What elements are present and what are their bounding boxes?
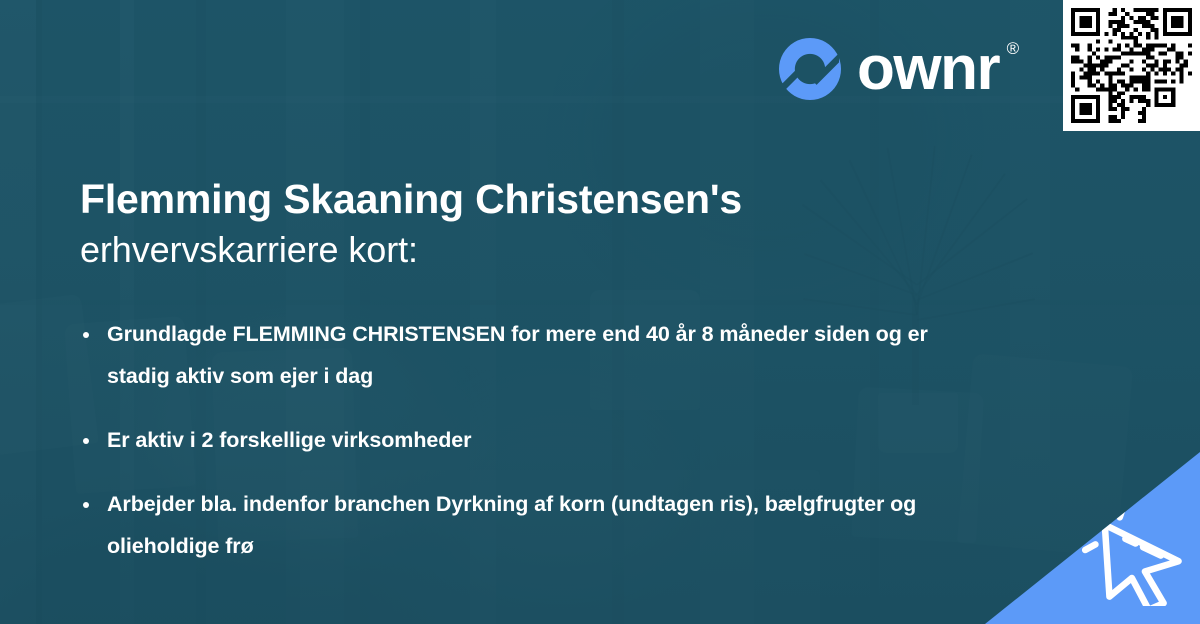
- qr-code[interactable]: [1063, 0, 1200, 131]
- bullet-icon: [83, 502, 89, 508]
- list-item-text: Grundlagde FLEMMING CHRISTENSEN for mere…: [107, 313, 987, 397]
- qr-code-canvas: [1071, 8, 1192, 123]
- ownr-wordmark-text: ownr: [857, 34, 999, 103]
- page-title: Flemming Skaaning Christensen's erhvervs…: [80, 173, 980, 275]
- ownr-career-card: ownr ® Flemming Skaaning Christensen's e…: [0, 0, 1200, 624]
- career-facts-list: Grundlagde FLEMMING CHRISTENSEN for mere…: [80, 313, 1010, 567]
- list-item: Grundlagde FLEMMING CHRISTENSEN for mere…: [80, 313, 1010, 397]
- page-title-line1: Flemming Skaaning Christensen's: [80, 173, 980, 225]
- registered-mark: ®: [1007, 40, 1020, 57]
- bullet-icon: [83, 438, 89, 444]
- list-item-text: Er aktiv i 2 forskellige virksomheder: [107, 419, 987, 461]
- ownr-circle-logo-icon: [777, 36, 843, 102]
- ownr-wordmark: ownr ®: [857, 38, 1019, 100]
- bullet-icon: [83, 332, 89, 338]
- list-item: Arbejder bla. indenfor branchen Dyrkning…: [80, 483, 1010, 567]
- list-item-text: Arbejder bla. indenfor branchen Dyrkning…: [107, 483, 987, 567]
- ownr-logo[interactable]: ownr ®: [777, 33, 1019, 105]
- list-item: Er aktiv i 2 forskellige virksomheder: [80, 419, 1010, 461]
- page-title-line2: erhvervskarriere kort:: [80, 225, 980, 275]
